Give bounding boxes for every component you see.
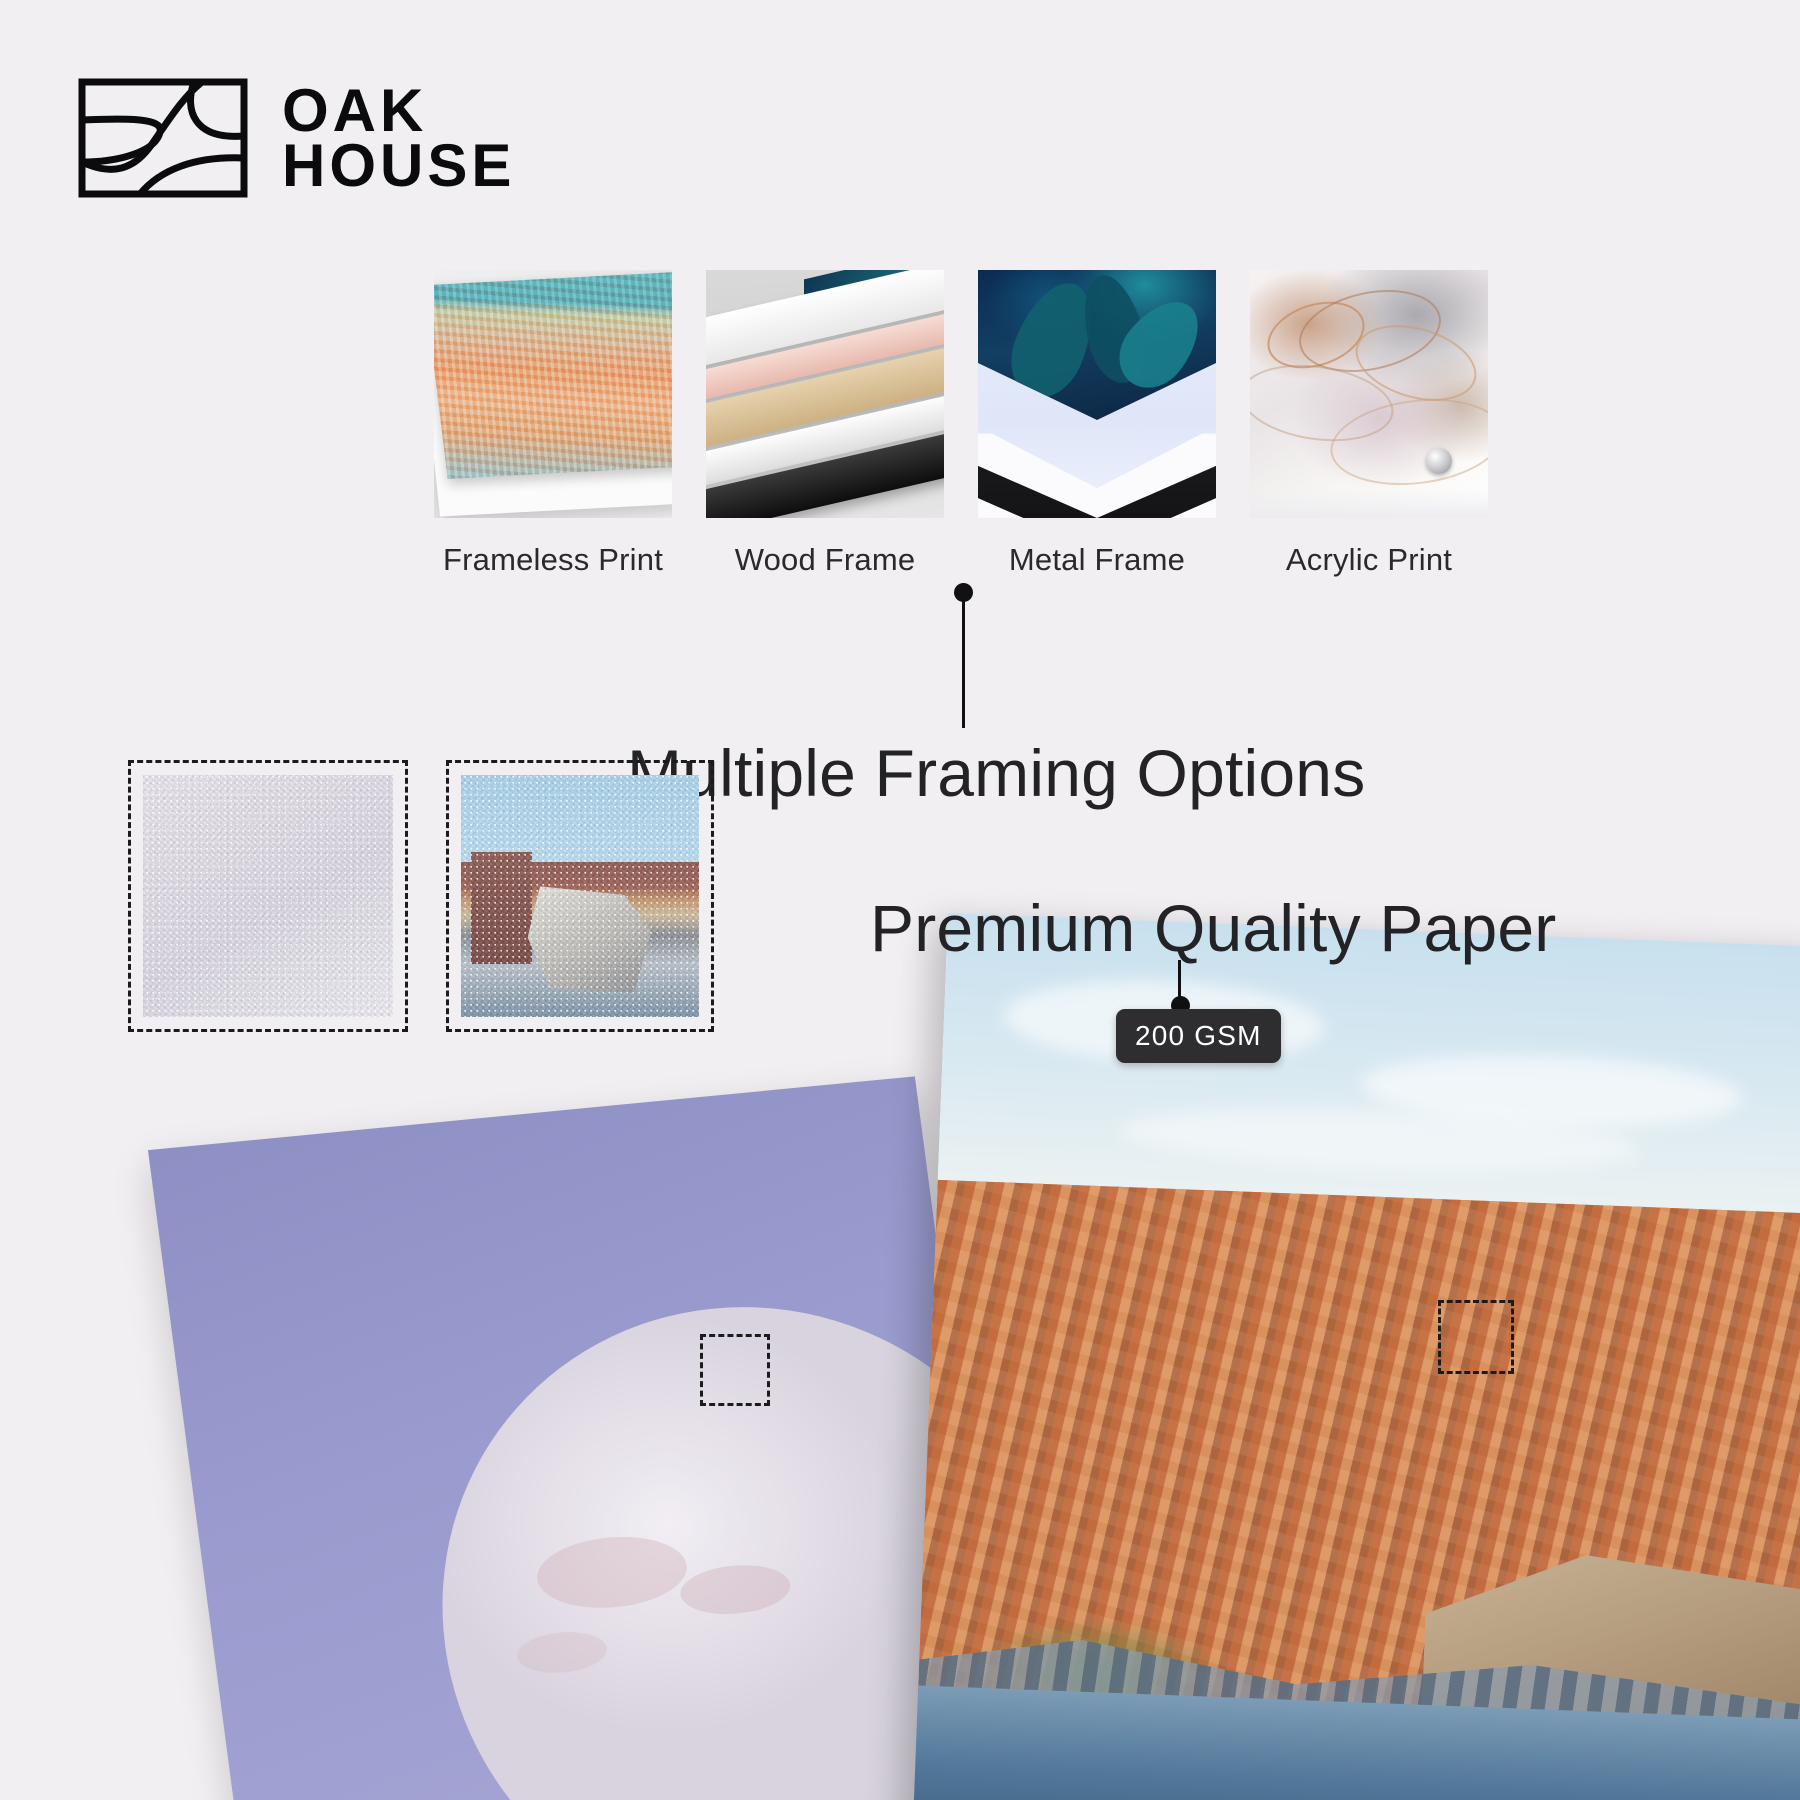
coastal-city-poster-mockup (913, 913, 1800, 1800)
framing-option-label: Frameless Print (434, 542, 672, 578)
framing-option-label: Acrylic Print (1250, 542, 1488, 578)
metal-frame-thumbnail (978, 270, 1216, 518)
framing-option-label: Metal Frame (978, 542, 1216, 578)
gsm-badge: 200 GSM (1116, 1009, 1281, 1063)
paper-heading: Premium Quality Paper (870, 890, 1556, 966)
framing-callout-line (962, 600, 965, 728)
brand-wordmark: OAK HOUSE (282, 83, 515, 193)
acrylic-print-thumbnail (1250, 270, 1488, 518)
paper-texture-blank-swatch (128, 760, 408, 1032)
framing-option-acrylic-print[interactable]: Acrylic Print (1250, 270, 1488, 578)
framing-option-metal-frame[interactable]: Metal Frame (978, 270, 1216, 578)
infographic-canvas: OAK HOUSE Frameless Print Wood Frame (0, 0, 1800, 1800)
framing-options-row: Frameless Print Wood Frame (434, 270, 1488, 578)
brand-name-line1: OAK (282, 83, 515, 138)
brand-name-line2: HOUSE (282, 138, 515, 193)
moon-poster-crop-marks (700, 1334, 770, 1406)
moon-poster-mockup (148, 1076, 1014, 1800)
framing-option-wood-frame[interactable]: Wood Frame (706, 270, 944, 578)
framing-option-label: Wood Frame (706, 542, 944, 578)
wood-frame-thumbnail (706, 270, 944, 518)
brand-logo: OAK HOUSE (78, 78, 515, 198)
framing-option-frameless-print[interactable]: Frameless Print (434, 270, 672, 578)
paper-texture-detail-swatch (446, 760, 714, 1032)
framing-heading: Multiple Framing Options (627, 735, 1365, 811)
abstract-landscape-logo-mark (78, 78, 248, 198)
acrylic-mount-stud-icon (1426, 448, 1452, 474)
frameless-print-thumbnail (434, 270, 672, 518)
city-poster-crop-marks (1438, 1300, 1514, 1374)
